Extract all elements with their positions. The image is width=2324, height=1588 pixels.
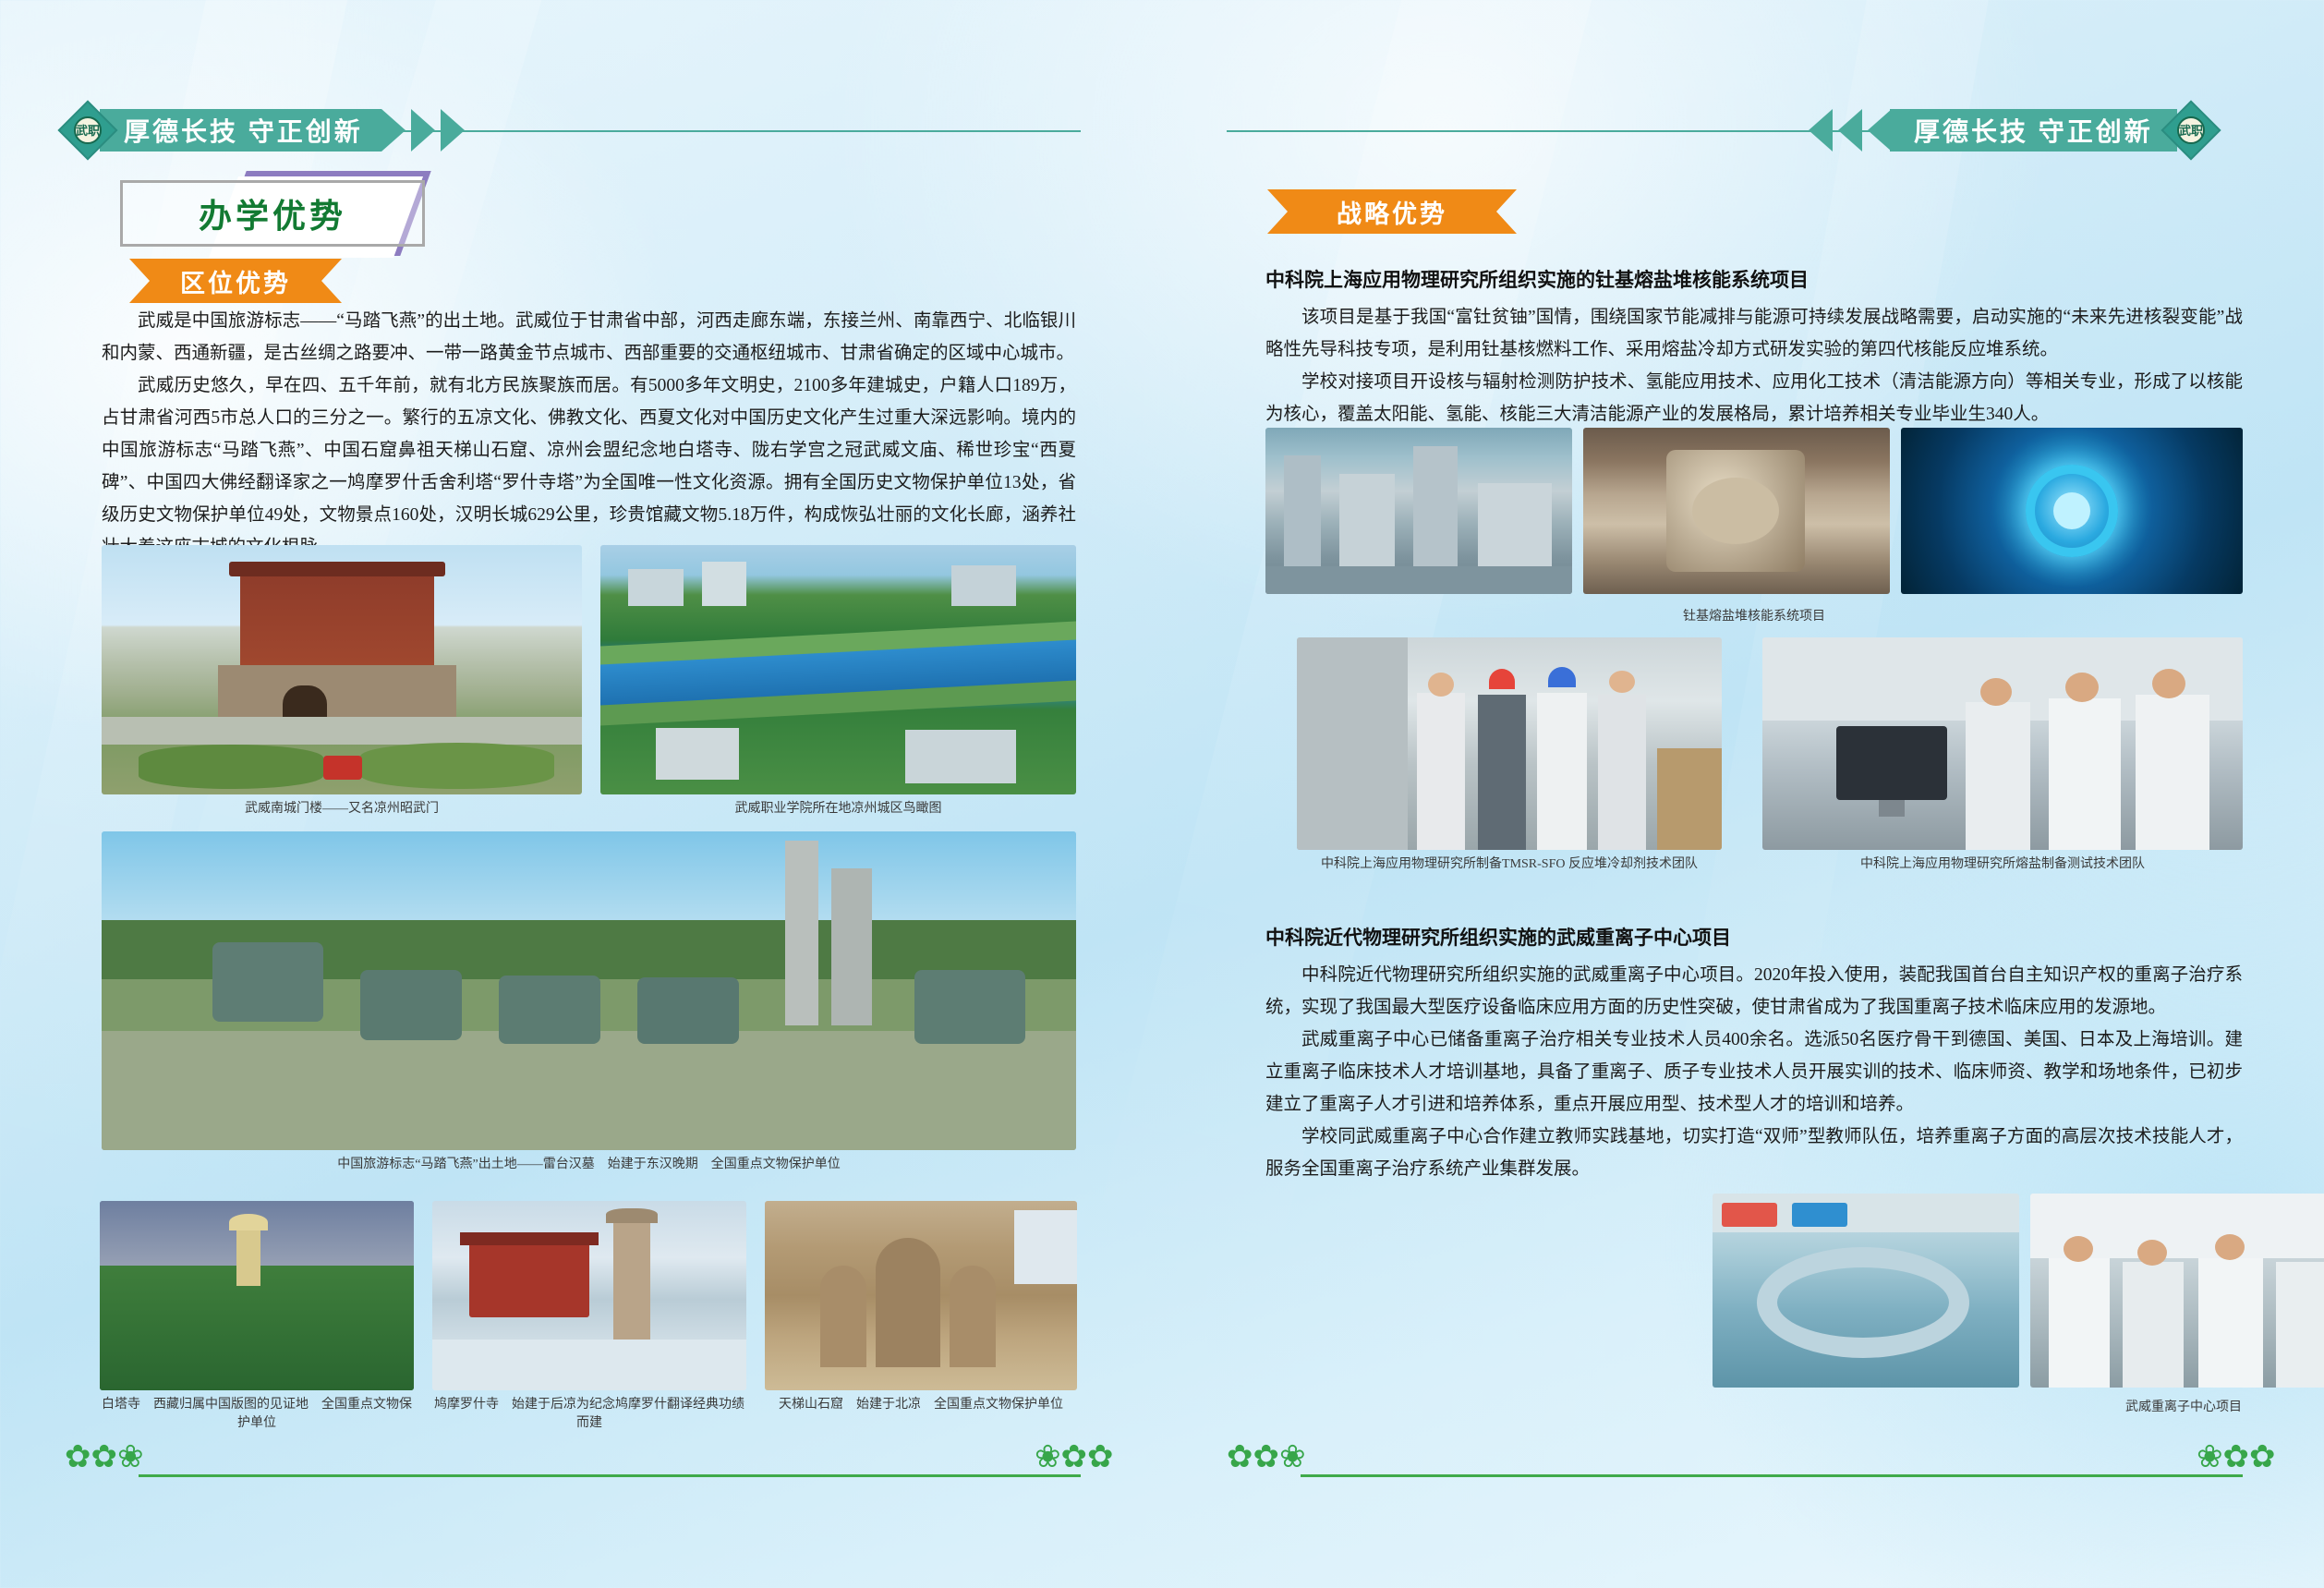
chevron-left-icon xyxy=(1838,109,1862,152)
paragraph: 中科院近代物理研究所组织实施的武威重离子中心项目。2020年投入使用，装配我国首… xyxy=(1265,959,2243,1024)
chevron-left-icon xyxy=(1809,109,1833,152)
photo-block-leitai: 中国旅游标志“马踏飞燕”出土地——雷台汉墓 始建于东汉晚期 全国重点文物保护单位 xyxy=(102,831,1076,1174)
photo-tmsr-sfo-team xyxy=(1297,637,1722,850)
right-page: 厚德长技 守正创新 武职 战略优势 中科院上海应用物理研究所组织实施的钍基熔盐堆… xyxy=(1162,0,2324,1588)
block-heading: 中科院上海应用物理研究所组织实施的钍基熔盐堆核能系统项目 xyxy=(1265,266,2243,296)
chevron-right-icon xyxy=(411,109,435,152)
photo-heavy-ion-accelerator xyxy=(1713,1194,2019,1388)
paragraph: 武威是中国旅游标志——“马踏飞燕”的出土地。武威位于甘肃省中部，河西走廊东端，东… xyxy=(102,305,1076,370)
vine-ornament-icon: ❀✿✿ xyxy=(2197,1441,2275,1473)
motto-bar: 厚德长技 守正创新 xyxy=(1890,109,2177,152)
running-header-left: 武职 厚德长技 守正创新 xyxy=(67,109,1078,152)
running-header-right: 厚德长技 守正创新 武职 xyxy=(1809,109,2212,152)
motto-text: 厚德长技 守正创新 xyxy=(124,112,363,149)
photo-caption: 天梯山石窟 始建于北凉 全国重点文物保护单位 xyxy=(765,1396,1077,1414)
emblem-inner-label: 武职 xyxy=(74,116,102,144)
photo-caption: 中国旅游标志“马踏飞燕”出土地——雷台汉墓 始建于东汉晚期 全国重点文物保护单位 xyxy=(102,1156,1076,1174)
photo-kumarajiva-temple xyxy=(432,1201,746,1390)
photo-caption: 钍基熔盐堆核能系统项目 xyxy=(1265,608,2243,626)
footer-rule xyxy=(139,1474,1081,1477)
photo-wuwei-south-gate xyxy=(102,545,582,794)
photo-block-test-team: 中科院上海应用物理研究所熔盐制备测试技术团队 xyxy=(1762,637,2243,874)
photo-caption: 武威职业学院所在地凉州城区鸟瞰图 xyxy=(600,800,1076,818)
section-tag-frame: 办学优势 xyxy=(120,180,425,247)
chevron-right-icon xyxy=(381,109,405,152)
footer-rule xyxy=(1301,1474,2243,1477)
photo-block-grottoes: 天梯山石窟 始建于北凉 全国重点文物保护单位 xyxy=(765,1201,1077,1414)
ribbon-label: 战略优势 xyxy=(1337,194,1447,230)
block-heading: 中科院近代物理研究所组织实施的武威重离子中心项目 xyxy=(1265,924,2243,953)
photo-leitai-han-tomb xyxy=(102,831,1076,1150)
motto-text: 厚德长技 守正创新 xyxy=(1914,112,2153,149)
section-tag-teaching-advantage: 办学优势 xyxy=(120,180,471,247)
photo-molten-salt-test-team xyxy=(1762,637,2243,850)
vine-ornament-icon: ❀✿✿ xyxy=(1035,1441,1113,1473)
photo-heavy-ion-training xyxy=(2030,1194,2324,1388)
photo-tiantishan-grottoes xyxy=(765,1201,1077,1390)
photo-block-baita: 白塔寺 西藏归属中国版图的见证地 全国重点文物保护单位 xyxy=(100,1201,414,1433)
paragraph: 武威重离子中心已储备重离子治疗相关专业技术人员400余名。选派50名医疗骨干到德… xyxy=(1265,1024,2243,1121)
photo-caption: 中科院上海应用物理研究所熔盐制备测试技术团队 xyxy=(1762,855,2243,874)
photo-block-south-gate: 武威南城门楼——又名凉州昭武门 xyxy=(102,545,582,818)
ribbon-strategy-advantage: 战略优势 xyxy=(1267,189,1517,234)
paragraph: 武威历史悠久，早在四、五千年前，就有北方民族聚族而居。有5000多年文明史，21… xyxy=(102,370,1076,564)
photo-caption: 鸠摩罗什寺 始建于后凉为纪念鸠摩罗什翻译经典功绩而建 xyxy=(432,1396,746,1433)
vine-ornament-icon: ✿✿❀ xyxy=(65,1441,143,1473)
photo-molten-salt-vessel xyxy=(1583,428,1890,594)
photo-reactor-plant xyxy=(1265,428,1572,594)
emblem-inner-label: 武职 xyxy=(2177,116,2205,144)
section-tag-label: 办学优势 xyxy=(199,189,346,237)
photo-caption: 中科院上海应用物理研究所制备TMSR-SFO 反应堆冷却剂技术团队 xyxy=(1297,855,1722,874)
photo-block-tmsr-team: 中科院上海应用物理研究所制备TMSR-SFO 反应堆冷却剂技术团队 xyxy=(1297,637,1722,874)
paragraph: 学校同武威重离子中心合作建立教师实践基地，切实打造“双师”型教师队伍，培养重离子… xyxy=(1265,1121,2243,1185)
chevron-right-icon xyxy=(441,109,465,152)
photo-caption: 武威南城门楼——又名凉州昭武门 xyxy=(102,800,582,818)
motto-bar: 厚德长技 守正创新 xyxy=(100,109,381,152)
photo-baita-temple xyxy=(100,1201,414,1390)
photo-block-kumarajiva: 鸠摩罗什寺 始建于后凉为纪念鸠摩罗什翻译经典功绩而建 xyxy=(432,1201,746,1433)
photo-caption: 武威重离子中心项目 xyxy=(1713,1399,2324,1417)
photo-reactor-core-blue xyxy=(1901,428,2243,594)
photo-block-aerial: 武威职业学院所在地凉州城区鸟瞰图 xyxy=(600,545,1076,818)
vine-ornament-icon: ✿✿❀ xyxy=(1227,1441,1305,1473)
paragraph: 该项目是基于我国“富钍贫铀”国情，围绕国家节能减排与能源可持续发展战略需要，启动… xyxy=(1265,301,2243,366)
photo-liangzhou-aerial xyxy=(600,545,1076,794)
photo-caption: 白塔寺 西藏归属中国版图的见证地 全国重点文物保护单位 xyxy=(100,1396,414,1433)
left-page: 武职 厚德长技 守正创新 办学优势 区位优势 武威是中国旅游标志——“马踏飞燕”… xyxy=(0,0,1162,1588)
right-block-thorium: 中科院上海应用物理研究所组织实施的钍基熔盐堆核能系统项目 该项目是基于我国“富钍… xyxy=(1265,266,2243,430)
ribbon-label: 区位优势 xyxy=(180,263,291,299)
right-block-heavy-ion: 中科院近代物理研究所组织实施的武威重离子中心项目 中科院近代物理研究所组织实施的… xyxy=(1265,924,2243,1185)
paragraph: 学校对接项目开设核与辐射检测防护技术、氢能应用技术、应用化工技术（清洁能源方向）… xyxy=(1265,366,2243,430)
chevron-left-icon xyxy=(1868,109,1892,152)
ribbon-district-advantage: 区位优势 xyxy=(129,259,342,303)
left-body-text: 武威是中国旅游标志——“马踏飞燕”的出土地。武威位于甘肃省中部，河西走廊东端，东… xyxy=(102,305,1076,564)
